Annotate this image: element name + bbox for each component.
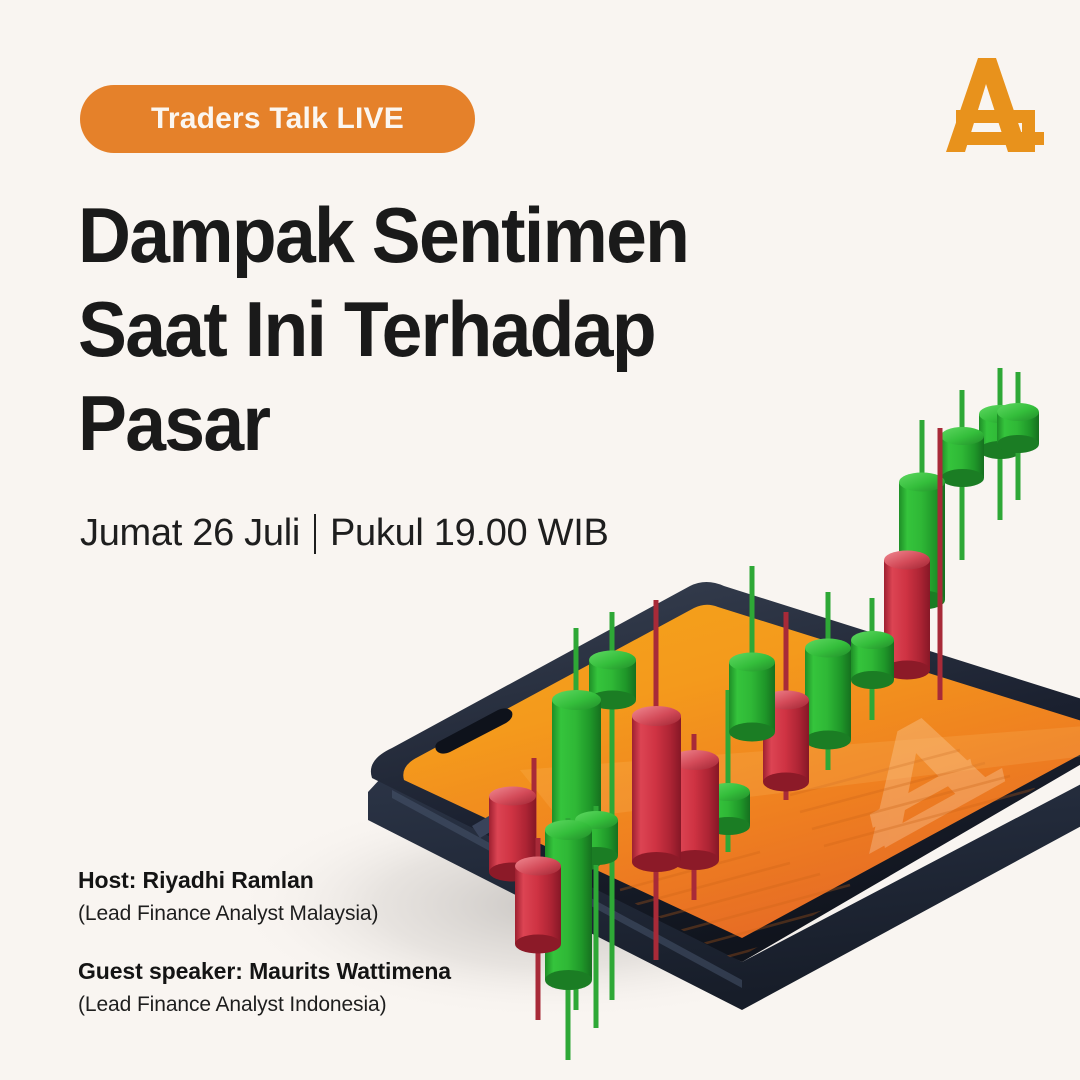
host-role: (Lead Finance Analyst Malaysia) [78, 900, 451, 927]
datetime-separator [314, 514, 316, 554]
live-badge: Traders Talk LIVE [80, 85, 475, 153]
host-name: Host: Riyadhi Ramlan [78, 866, 451, 895]
promo-poster: Traders Talk LIVE Dampak Sentimen Saat I… [0, 0, 1080, 1080]
page-title: Dampak Sentimen Saat Ini Terhadap Pasar [78, 196, 736, 478]
title-line-1: Dampak Sentimen [78, 196, 736, 274]
poster-content: Traders Talk LIVE Dampak Sentimen Saat I… [0, 0, 1080, 1080]
guest-name: Guest speaker: Maurits Wattimena [78, 957, 451, 986]
event-date: Jumat 26 Juli [80, 512, 300, 555]
event-datetime: Jumat 26 Juli Pukul 19.00 WIB [80, 512, 609, 555]
title-line-2: Saat Ini Terhadap [78, 290, 736, 368]
title-line-3: Pasar [78, 384, 736, 462]
speakers-block: Host: Riyadhi Ramlan (Lead Finance Analy… [78, 866, 451, 1018]
event-time: Pukul 19.00 WIB [330, 512, 609, 555]
guest-group: Guest speaker: Maurits Wattimena (Lead F… [78, 957, 451, 1018]
guest-role: (Lead Finance Analyst Indonesia) [78, 991, 451, 1018]
live-badge-label: Traders Talk LIVE [151, 104, 404, 134]
host-group: Host: Riyadhi Ramlan (Lead Finance Analy… [78, 866, 451, 927]
brand-a-logo-icon [934, 52, 1052, 164]
